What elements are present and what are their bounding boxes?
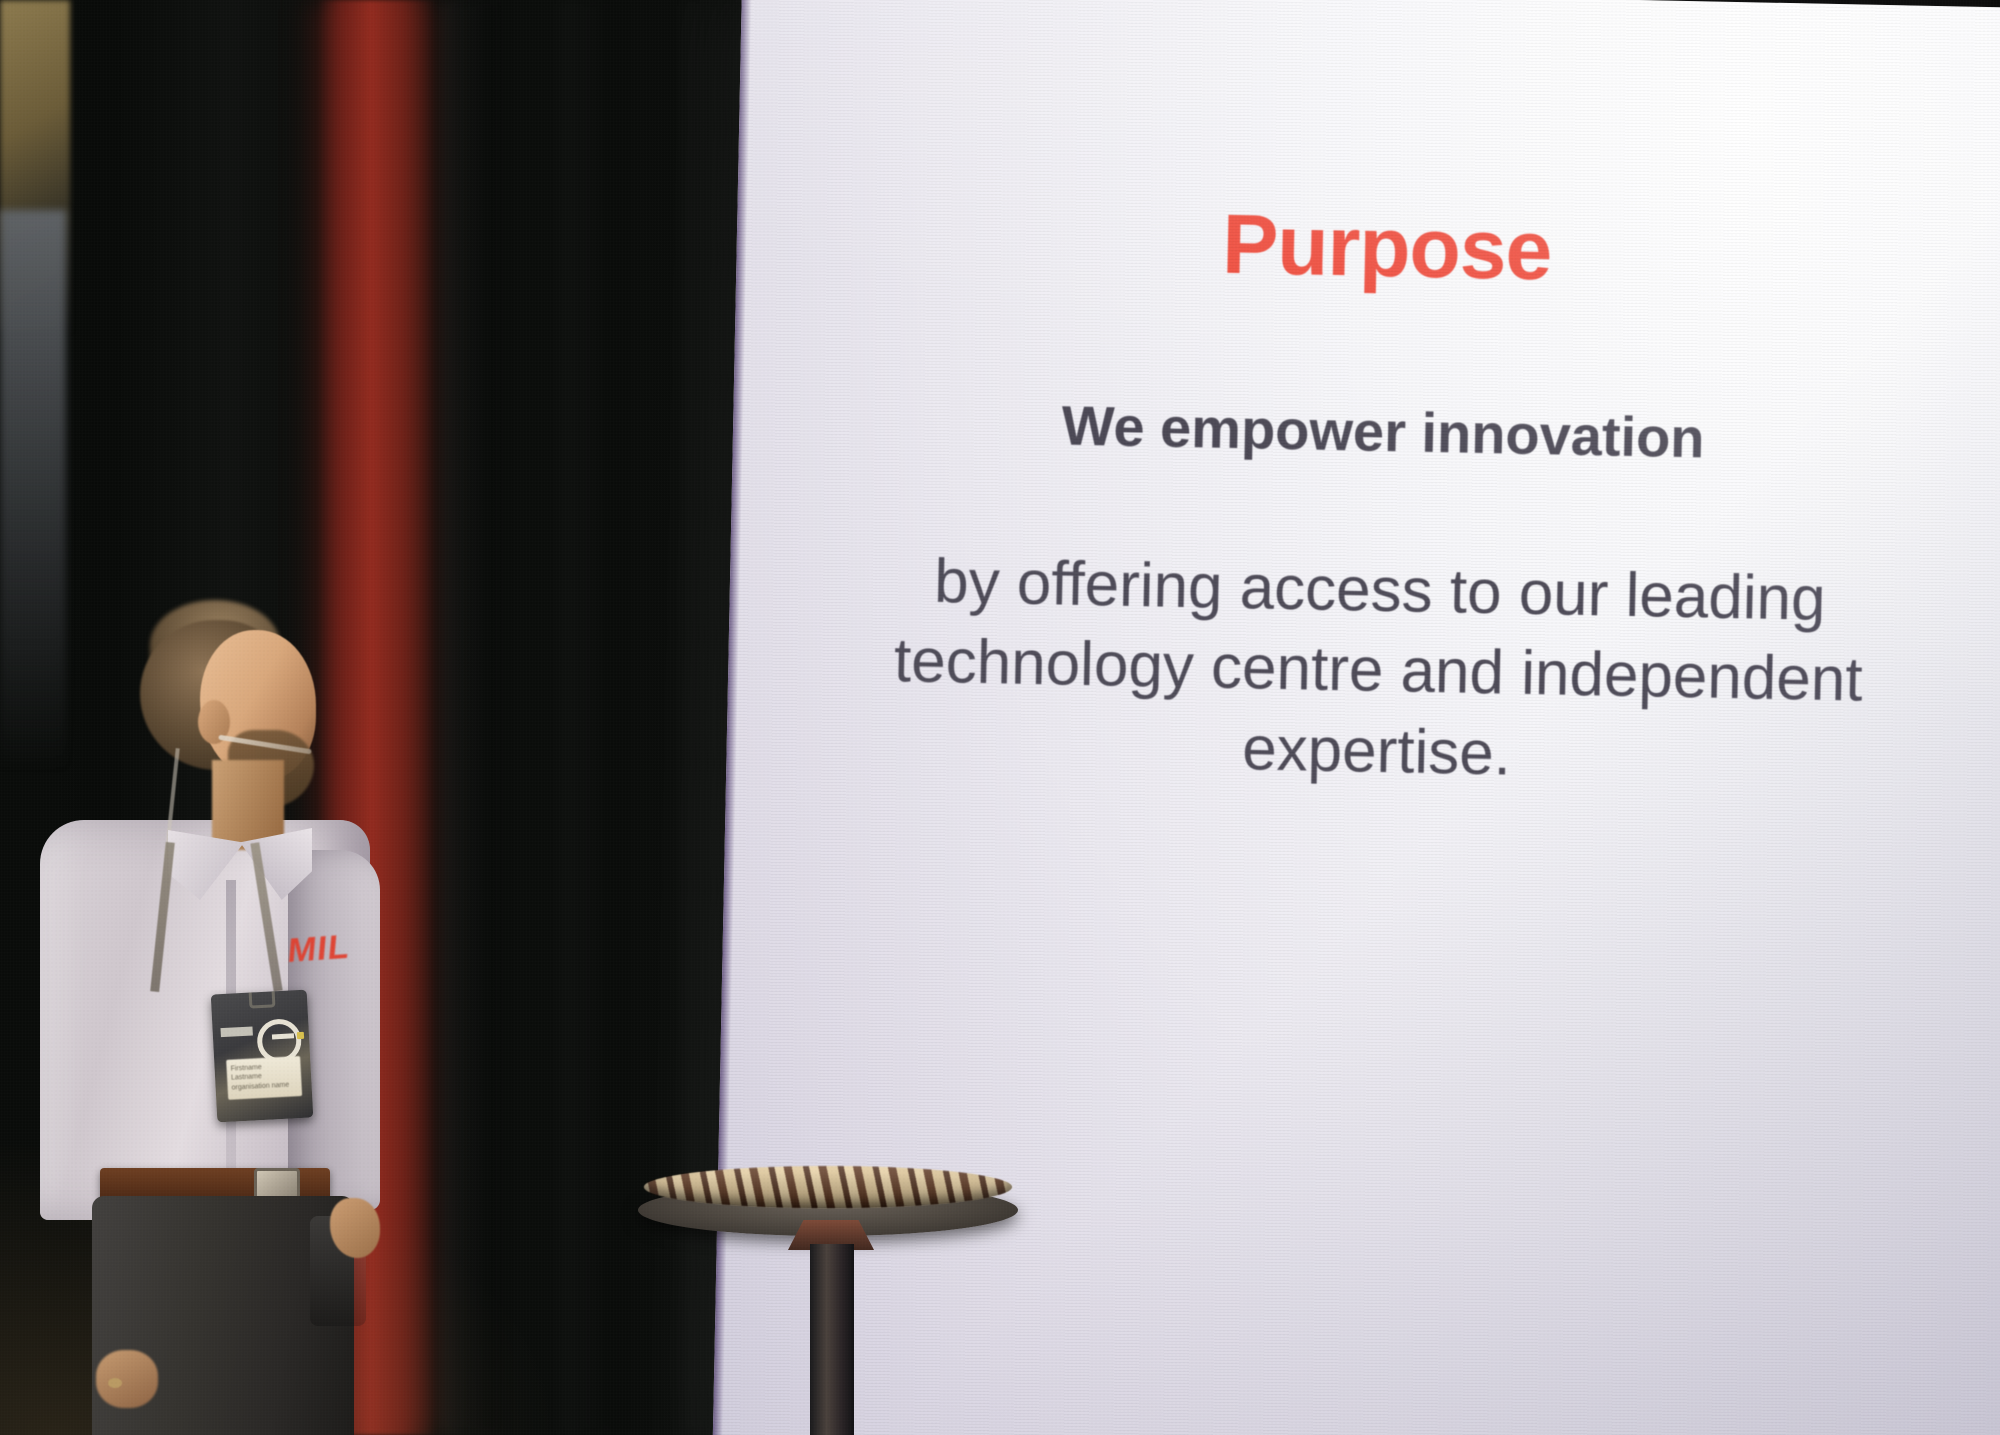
slide-subtitle: We empower innovation xyxy=(1061,395,1705,469)
presenter: MIL Firstname Lastname organisation name xyxy=(0,0,420,1435)
badge-accent-dot xyxy=(297,1032,304,1039)
badge-bar xyxy=(220,1026,252,1037)
shirt-logo: MIL xyxy=(286,928,352,971)
presenter-ring xyxy=(108,1378,122,1388)
bar-stool xyxy=(638,1160,1018,1435)
slide-body: by offering access to our leading techno… xyxy=(892,541,1865,802)
screenshot-root: Purpose We empower innovation by offerin… xyxy=(0,0,2000,1435)
stool-pole xyxy=(810,1244,854,1435)
badge-name-label: Firstname Lastname organisation name xyxy=(226,1056,302,1100)
stool-rim-shading xyxy=(644,1166,1012,1208)
slide-title: Purpose xyxy=(1221,202,1552,293)
badge-clip-icon xyxy=(248,990,275,1009)
presenter-left-hand xyxy=(96,1350,158,1408)
curtain-fold xyxy=(560,0,620,1435)
conference-badge: Firstname Lastname organisation name xyxy=(211,990,314,1123)
